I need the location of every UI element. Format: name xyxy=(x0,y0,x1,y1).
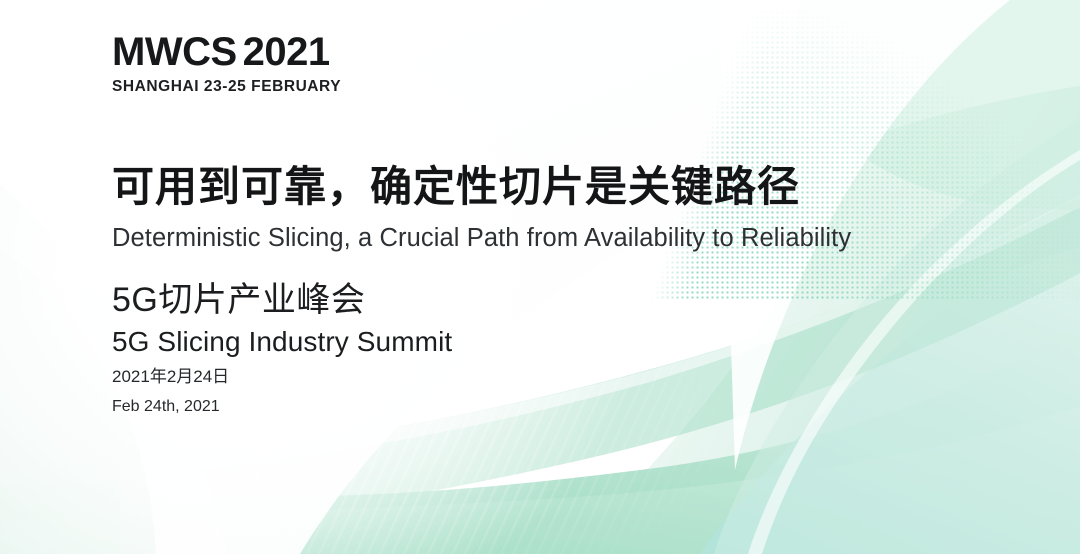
date-block: 2021年2月24日 Feb 24th, 2021 xyxy=(112,366,229,417)
poster-canvas: MWCS2021 SHANGHAI 23-25 FEBRUARY 可用到可靠，确… xyxy=(0,0,1080,554)
mwcs-logo-wordmark: MWCS2021 xyxy=(112,32,341,72)
headline-block: 可用到可靠，确定性切片是关键路径 Deterministic Slicing, … xyxy=(112,163,851,359)
mwcs-logo-year: 2021 xyxy=(243,30,330,74)
mwcs-logo-location-dates: SHANGHAI 23-25 FEBRUARY xyxy=(112,79,341,95)
mwcs-logo-brand: MWCS xyxy=(112,30,237,74)
poster-content: MWCS2021 SHANGHAI 23-25 FEBRUARY 可用到可靠，确… xyxy=(0,0,1080,554)
event-name-chinese: 5G切片产业峰会 xyxy=(112,281,851,320)
title-english: Deterministic Slicing, a Crucial Path fr… xyxy=(112,223,851,253)
date-chinese: 2021年2月24日 xyxy=(112,366,229,387)
title-chinese: 可用到可靠，确定性切片是关键路径 xyxy=(112,163,851,212)
event-name-english: 5G Slicing Industry Summit xyxy=(112,325,851,359)
date-english: Feb 24th, 2021 xyxy=(112,397,229,417)
mwcs-logo: MWCS2021 SHANGHAI 23-25 FEBRUARY xyxy=(112,32,341,95)
